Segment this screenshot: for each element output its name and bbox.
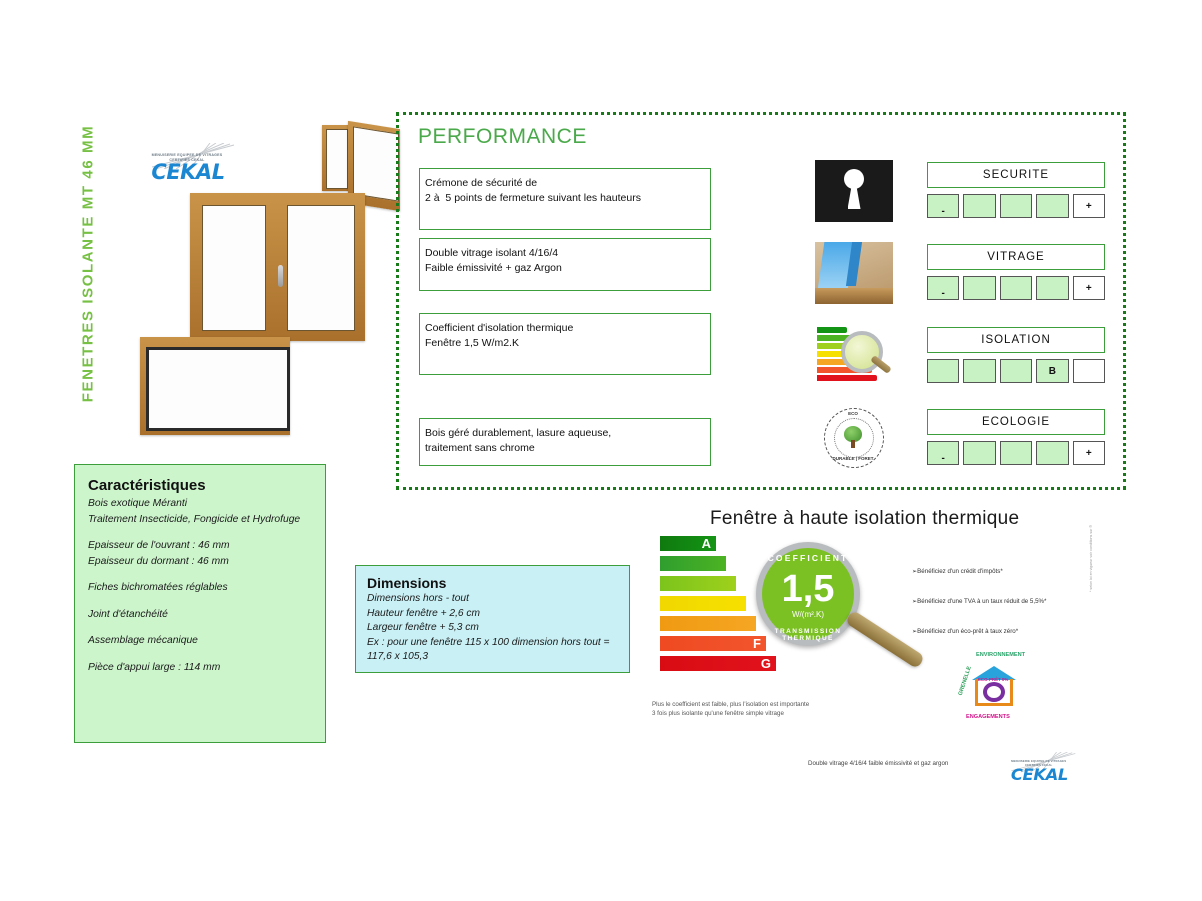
- rating-row-securite: SECURITE - +: [815, 160, 1115, 228]
- scale-cell[interactable]: [963, 194, 995, 218]
- scale-cell[interactable]: [1036, 194, 1068, 218]
- scale-cell-minus[interactable]: -: [927, 276, 959, 300]
- benefit-item: ➢Bénéficiez d'une TVA à un taux réduit d…: [912, 598, 1092, 605]
- performance-box-glazing: Double vitrage isolant 4/16/4 Faible émi…: [419, 238, 711, 291]
- scale-cell-plus[interactable]: +: [1073, 194, 1105, 218]
- coefficient-badge: COEFFICIENT 1,5 W/(m².K) TRANSMISSION TH…: [756, 542, 860, 646]
- benefits-list: ➢Bénéficiez d'un crédit d'impôts* ➢Bénéf…: [912, 568, 1092, 658]
- caracteristiques-sill: Pièce d'appui large : 114 mm: [88, 660, 312, 676]
- keyhole-icon: [815, 160, 893, 222]
- product-datasheet-page: FENETRES ISOLANTE MT 46 MM MENUISERIE EQ…: [0, 0, 1202, 901]
- page-vertical-title: FENETRES ISOLANTE MT 46 MM: [80, 114, 97, 414]
- window-product-photo: [150, 125, 400, 435]
- performance-box-insulation: Coefficient d'isolation thermique Fenêtr…: [419, 313, 711, 375]
- scale-cell-grade-b[interactable]: B: [1036, 359, 1068, 383]
- eco-pret-center-label: ECO-PRÊT 0%: [978, 677, 1008, 682]
- caracteristiques-assembly: Assemblage mécanique: [88, 633, 312, 649]
- performance-box-ecology: Bois géré durablement, lasure aqueuse, t…: [419, 418, 711, 466]
- scale-cell[interactable]: [1036, 441, 1068, 465]
- window-handle: [278, 265, 283, 287]
- rating-scale-vitrage: - +: [927, 276, 1105, 300]
- benefit-item: ➢Bénéficiez d'un crédit d'impôts*: [912, 568, 1092, 575]
- rating-label-isolation: ISOLATION: [927, 327, 1105, 353]
- thermal-heading: Fenêtre à haute isolation thermique: [710, 508, 1019, 530]
- cekal-logo-bottom: MENUISERIE EQUIPEE DE VITRAGES CERTIFIES…: [1002, 752, 1077, 788]
- scale-cell[interactable]: [963, 276, 995, 300]
- scale-cell-plus[interactable]: +: [1073, 441, 1105, 465]
- energy-label-caption: Plus le coefficient est faible, plus l'i…: [652, 700, 902, 718]
- caracteristiques-seal: Joint d'étanchéité: [88, 607, 312, 623]
- badge-top-label: COEFFICIENT: [762, 553, 854, 563]
- legal-fine-print: * selon loi en vigueur voir conditions s…: [1089, 532, 1093, 592]
- grenelle-left-label: GRENELLE: [958, 666, 973, 697]
- caracteristiques-material: Bois exotique Méranti Traitement Insecti…: [88, 496, 312, 527]
- scale-cell-minus[interactable]: -: [927, 194, 959, 218]
- dimensions-title: Dimensions: [367, 575, 618, 591]
- grenelle-bottom-label: ENGAGEMENTS: [966, 714, 1010, 720]
- caracteristiques-hinges: Fiches bichromatées réglables: [88, 580, 312, 596]
- energy-label-chart: A F G COEFFICIENT 1,5 W/(m².K) TRANSMISS…: [660, 536, 890, 696]
- dimensions-body: Dimensions hors - tout Hauteur fenêtre +…: [367, 592, 618, 665]
- scale-cell[interactable]: [1036, 276, 1068, 300]
- rating-scale-isolation: B: [927, 359, 1105, 383]
- glazing-footnote: Double vitrage 4/16/4 faible émissivité …: [808, 760, 948, 767]
- rating-label-vitrage: VITRAGE: [927, 244, 1105, 270]
- scale-cell[interactable]: [963, 441, 995, 465]
- scale-cell[interactable]: [1000, 194, 1032, 218]
- benefit-item: ➢Bénéficiez d'un éco-prêt à taux zéro*: [912, 628, 1092, 635]
- eco-seal-icon: ECODURABLE | FORET: [815, 407, 893, 469]
- rating-row-ecologie: ECODURABLE | FORET ECOLOGIE - +: [815, 407, 1115, 475]
- caracteristiques-title: Caractéristiques: [88, 477, 312, 494]
- coefficient-unit: W/(m².K): [762, 610, 854, 619]
- cekal-wordmark: CEKAL: [1007, 765, 1073, 784]
- scale-cell[interactable]: [1073, 359, 1105, 383]
- badge-bottom-label: TRANSMISSION THERMIQUE: [762, 628, 854, 642]
- rating-row-vitrage: VITRAGE - +: [815, 242, 1115, 310]
- grenelle-top-label: ENVIRONNEMENT: [976, 652, 1025, 658]
- performance-box-security: Crémone de sécurité de 2 à 5 points de f…: [419, 168, 711, 230]
- caracteristiques-thickness: Epaisseur de l'ouvrant : 46 mm Epaisseur…: [88, 538, 312, 569]
- rating-row-isolation: ISOLATION B: [815, 325, 1115, 393]
- rating-scale-ecologie: - +: [927, 441, 1105, 465]
- performance-title: PERFORMANCE: [418, 125, 587, 149]
- scale-cell[interactable]: [1000, 276, 1032, 300]
- scale-cell[interactable]: [927, 359, 959, 383]
- scale-cell-minus[interactable]: -: [927, 441, 959, 465]
- glazing-photo-icon: [815, 242, 893, 304]
- scale-cell[interactable]: [963, 359, 995, 383]
- eco-pret-house-icon: ECO-PRÊT 0%: [972, 666, 1016, 706]
- scale-cell-plus[interactable]: +: [1073, 276, 1105, 300]
- rating-scale-securite: - +: [927, 194, 1105, 218]
- coefficient-value: 1,5: [762, 570, 854, 608]
- dimensions-box: Dimensions Dimensions hors - tout Hauteu…: [355, 565, 630, 673]
- scale-cell[interactable]: [1000, 359, 1032, 383]
- scale-cell[interactable]: [1000, 441, 1032, 465]
- rating-label-ecologie: ECOLOGIE: [927, 409, 1105, 435]
- energy-magnifier-icon: [815, 325, 893, 387]
- caracteristiques-box: Caractéristiques Bois exotique Méranti T…: [74, 464, 326, 743]
- grenelle-environnement-logo: GRENELLE ENVIRONNEMENT ENGAGEMENTS ECO-P…: [946, 652, 1042, 726]
- rating-label-securite: SECURITE: [927, 162, 1105, 188]
